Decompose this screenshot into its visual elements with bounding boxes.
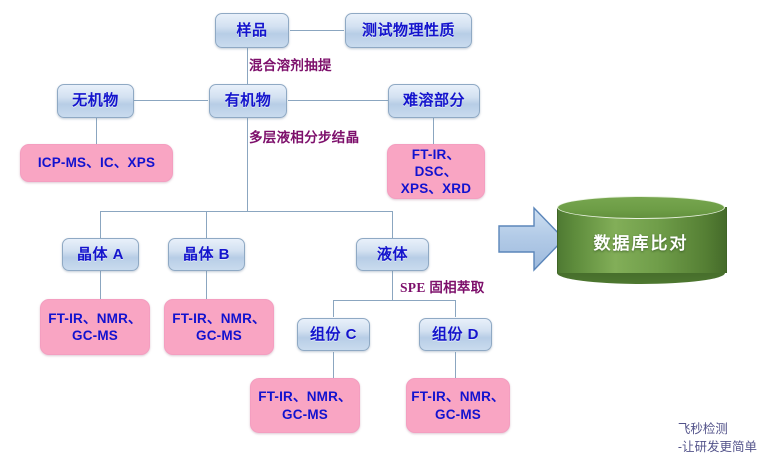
methods-component-c-line2: GC-MS xyxy=(282,406,328,423)
node-liquid-label: 液体 xyxy=(377,246,408,263)
methods-inorganic: ICP-MS、IC、XPS xyxy=(20,144,173,182)
methods-component-d: FT-IR、NMR、 GC-MS xyxy=(406,378,510,433)
database-cylinder[interactable]: 数据库比对 xyxy=(557,196,725,284)
connector-sample-to-physical-test xyxy=(290,30,344,31)
connector-bus-to-component-c xyxy=(333,300,334,317)
methods-inorganic-label: ICP-MS、IC、XPS xyxy=(38,154,155,171)
connector-organic-to-bus xyxy=(247,118,248,212)
connector-sample-to-organic xyxy=(247,48,248,85)
node-component-d-label: 组份 D xyxy=(432,326,479,343)
node-physical-test-label: 测试物理性质 xyxy=(362,22,455,39)
methods-crystal-a-line1: FT-IR、NMR、 xyxy=(48,310,142,327)
connector-bus-to-liquid xyxy=(392,211,393,238)
node-insoluble-label: 难溶部分 xyxy=(403,92,465,109)
connector-bus-to-crystal-b xyxy=(206,211,207,238)
methods-component-d-line2: GC-MS xyxy=(435,406,481,423)
methods-crystal-b: FT-IR、NMR、 GC-MS xyxy=(164,299,274,355)
connector-inorganic-to-methods xyxy=(96,118,97,144)
methods-crystal-a-line2: GC-MS xyxy=(72,327,118,344)
connector-organic-to-insoluble xyxy=(288,100,388,101)
annotation-crystallization: 多层液相分步结晶 xyxy=(249,126,359,146)
node-crystal-a-label: 晶体 A xyxy=(77,246,124,263)
methods-crystal-a: FT-IR、NMR、 GC-MS xyxy=(40,299,150,355)
connector-bus-to-crystal-a xyxy=(100,211,101,238)
annotation-extraction: 混合溶剂抽提 xyxy=(249,54,332,74)
node-organic-label: 有机物 xyxy=(225,92,272,109)
connector-spe-bus xyxy=(333,300,455,301)
node-insoluble[interactable]: 难溶部分 xyxy=(388,84,480,118)
flow-arrow-to-database xyxy=(498,203,566,275)
methods-insoluble-line1: FT-IR、DSC、 xyxy=(392,146,480,181)
node-physical-test[interactable]: 测试物理性质 xyxy=(345,13,472,48)
cylinder-top-ellipse xyxy=(557,196,725,219)
node-crystal-a[interactable]: 晶体 A xyxy=(62,238,139,271)
methods-insoluble: FT-IR、DSC、 XPS、XRD xyxy=(387,144,485,199)
database-label: 数据库比对 xyxy=(557,218,725,264)
connector-liquid-to-spe-bus xyxy=(392,270,393,300)
methods-insoluble-line2: XPS、XRD xyxy=(401,180,471,197)
node-crystal-b-label: 晶体 B xyxy=(183,246,230,263)
node-liquid[interactable]: 液体 xyxy=(356,238,429,271)
methods-crystal-b-line2: GC-MS xyxy=(196,327,242,344)
connector-crystal-b-to-methods xyxy=(206,270,207,299)
watermark: 飞秒检测 -让研发更简单 xyxy=(678,420,757,456)
annotation-spe: SPE 固相萃取 xyxy=(400,276,485,296)
watermark-line1: 飞秒检测 xyxy=(678,420,757,438)
connector-crystal-a-to-methods xyxy=(100,270,101,299)
connector-inorganic-to-organic xyxy=(133,100,208,101)
node-sample-label: 样品 xyxy=(236,22,267,39)
connector-component-c-to-methods xyxy=(333,352,334,378)
watermark-line2: -让研发更简单 xyxy=(678,438,757,456)
connector-insoluble-to-methods xyxy=(433,118,434,144)
methods-crystal-b-line1: FT-IR、NMR、 xyxy=(172,310,266,327)
right-arrow-icon xyxy=(498,203,566,275)
connector-bus-crystals-liquid xyxy=(100,211,392,212)
node-sample[interactable]: 样品 xyxy=(215,13,289,48)
methods-component-c-line1: FT-IR、NMR、 xyxy=(258,388,352,405)
node-organic[interactable]: 有机物 xyxy=(209,84,287,118)
node-component-c[interactable]: 组份 C xyxy=(297,318,370,351)
node-component-c-label: 组份 C xyxy=(310,326,357,343)
node-inorganic-label: 无机物 xyxy=(72,92,119,109)
node-crystal-b[interactable]: 晶体 B xyxy=(168,238,245,271)
connector-component-d-to-methods xyxy=(455,352,456,378)
methods-component-d-line1: FT-IR、NMR、 xyxy=(411,388,505,405)
node-inorganic[interactable]: 无机物 xyxy=(57,84,134,118)
node-component-d[interactable]: 组份 D xyxy=(419,318,492,351)
methods-component-c: FT-IR、NMR、 GC-MS xyxy=(250,378,360,433)
flowchart-canvas: 样品 测试物理性质 无机物 有机物 难溶部分 晶体 A 晶体 B 液体 组份 C… xyxy=(0,0,771,468)
connector-bus-to-component-d xyxy=(455,300,456,317)
